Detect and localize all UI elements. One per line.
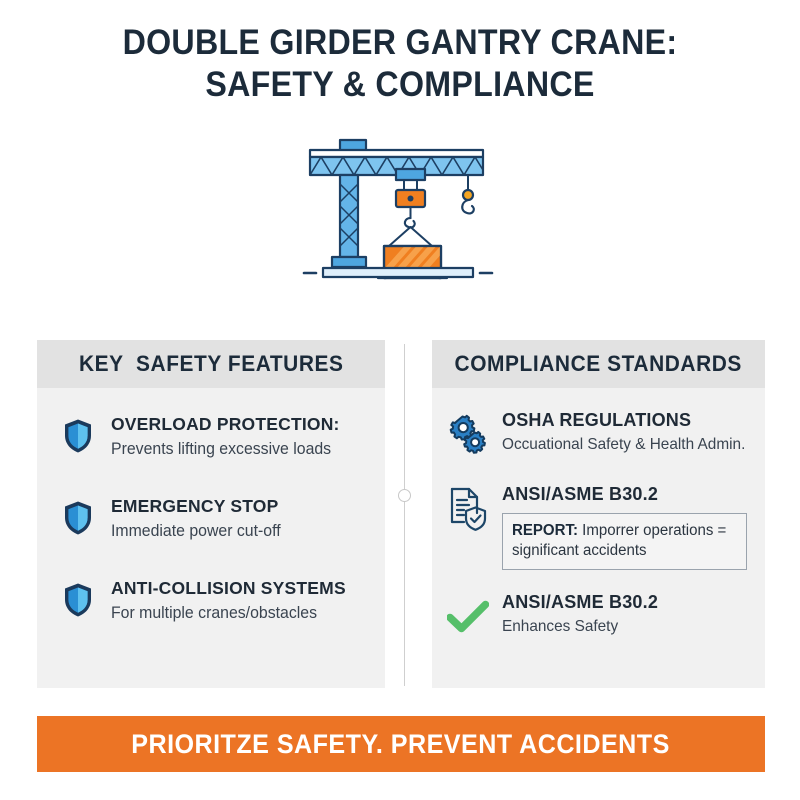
report-callout: REPORT: Imporrer operations = significan…: [502, 513, 747, 570]
gantry-crane-illustration: [288, 128, 516, 280]
list-item-text: EMERGENCY STOP Immediate power cut-off: [111, 496, 373, 542]
list-item-text: OVERLOAD PROTECTION: Prevents lifting ex…: [111, 414, 373, 460]
title-line-1: DOUBLE GIRDER GANTRY CRANE:: [32, 22, 768, 64]
feature-description: For multiple cranes/obstacles: [111, 602, 363, 624]
list-item: ANSI/ASME B30.2 Enhances Safety: [432, 592, 765, 640]
list-item: OVERLOAD PROTECTION: Prevents lifting ex…: [37, 414, 385, 460]
list-item-text: OSHA REGULATIONS Occuational Safety & He…: [502, 410, 753, 456]
key-safety-features-panel: KEY SAFETY FEATURES OVERLOAD PROTECTION:…: [37, 340, 385, 688]
list-item-text: ANTI-COLLISION SYSTEMS For multiple cran…: [111, 578, 373, 624]
call-to-action-banner: PRIORITZE SAFETY. PREVENT ACCIDENTS: [37, 716, 765, 772]
check-icon: [446, 594, 490, 640]
shield-icon: [61, 580, 95, 620]
shield-icon: [61, 498, 95, 538]
content-panels: KEY SAFETY FEATURES OVERLOAD PROTECTION:…: [0, 340, 800, 692]
feature-title: ANTI-COLLISION SYSTEMS: [111, 578, 346, 598]
left-panel-header: KEY SAFETY FEATURES: [37, 340, 385, 388]
list-item: EMERGENCY STOP Immediate power cut-off: [37, 496, 385, 542]
panel-divider-line: [404, 344, 405, 686]
feature-description: Prevents lifting excessive loads: [111, 438, 363, 460]
list-item: ANTI-COLLISION SYSTEMS For multiple cran…: [37, 578, 385, 624]
left-panel-header-text: KEY SAFETY FEATURES: [79, 351, 344, 377]
standard-title: ANSI/ASME B30.2: [502, 592, 658, 612]
list-item-text: ANSI/ASME B30.2 Enhances Safety: [502, 592, 753, 638]
left-panel-body: OVERLOAD PROTECTION: Prevents lifting ex…: [37, 388, 385, 624]
right-panel-header: COMPLIANCE STANDARDS: [432, 340, 765, 388]
list-item-text: ANSI/ASME B30.2 REPORT: Imporrer operati…: [502, 484, 753, 570]
banner-text: PRIORITZE SAFETY. PREVENT ACCIDENTS: [132, 729, 671, 760]
right-panel-header-text: COMPLIANCE STANDARDS: [455, 351, 742, 377]
standard-description: Occuational Safety & Health Admin.: [502, 434, 743, 456]
panel-divider-dot: [398, 489, 411, 502]
feature-title: OVERLOAD PROTECTION:: [111, 414, 340, 434]
report-label: REPORT:: [512, 522, 578, 539]
standard-description: Enhances Safety: [502, 616, 743, 638]
feature-description: Immediate power cut-off: [111, 520, 363, 542]
report-text: REPORT: Imporrer operations = significan…: [512, 521, 730, 561]
document-shield-icon: [446, 486, 490, 532]
compliance-standards-panel: COMPLIANCE STANDARDS: [432, 340, 765, 688]
list-item: OSHA REGULATIONS Occuational Safety & He…: [432, 410, 765, 458]
shield-icon: [61, 416, 95, 456]
standard-title: ANSI/ASME B30.2: [502, 484, 658, 504]
page-title: DOUBLE GIRDER GANTRY CRANE: SAFETY & COM…: [0, 22, 800, 106]
right-panel-body: OSHA REGULATIONS Occuational Safety & He…: [432, 388, 765, 640]
feature-title: EMERGENCY STOP: [111, 496, 278, 516]
title-line-2: SAFETY & COMPLIANCE: [32, 64, 768, 106]
list-item: ANSI/ASME B30.2 REPORT: Imporrer operati…: [432, 484, 765, 570]
gears-icon: [446, 412, 490, 458]
standard-title: OSHA REGULATIONS: [502, 410, 691, 430]
